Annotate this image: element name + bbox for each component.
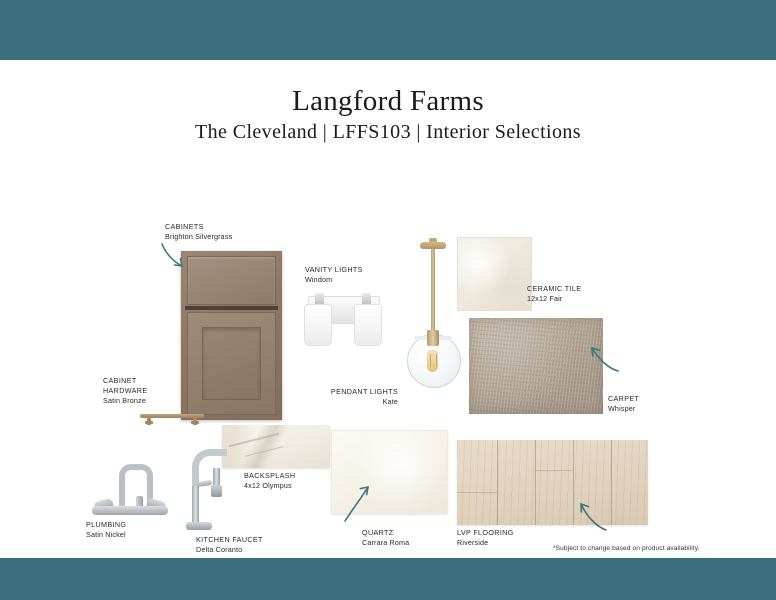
label-lvp-flooring-product: Riverside [457,538,514,548]
arrow-to-lvp-flooring [572,500,608,532]
arrow-to-quartz [336,485,370,525]
swatch-lvp-flooring[interactable] [457,440,648,525]
label-backsplash-category: BACKSPLASH [244,471,295,481]
label-vanity-lights-category: VANITY LIGHTS [305,265,363,275]
label-ceramic-tile-product: 12x12 Fair [527,294,581,304]
swatch-vanity-lights[interactable] [299,288,387,350]
bath-faucet-escutcheon [92,506,168,515]
label-vanity-lights: VANITY LIGHTS Windom [305,265,363,285]
label-lvp-flooring: LVP FLOORING Riverside [457,528,514,548]
label-ceramic-tile: CERAMIC TILE 12x12 Fair [527,284,581,304]
vanity-shade-right [354,304,382,346]
lvp-plank-seam [611,440,612,525]
label-kitchen-faucet-product: Delta Coranto [196,545,263,555]
label-backsplash: BACKSPLASH 4x12 Olympus [244,471,295,491]
pendant-socket [427,330,439,346]
cabinet-door-front [187,312,276,415]
label-pendant-lights: PENDANT LIGHTS Kate [316,387,398,407]
kitchen-faucet-sprayhead [211,485,222,497]
label-carpet-category: CARPET [608,394,639,404]
label-plumbing-product: Satin Nickel [86,530,126,540]
top-banner [0,0,776,60]
bar-pull-base-left [145,421,153,424]
label-backsplash-product: 4x12 Olympus [244,481,295,491]
label-plumbing: PLUMBING Satin Nickel [86,520,126,540]
label-quartz-category: QUARTZ [362,528,409,538]
label-ceramic-tile-category: CERAMIC TILE [527,284,581,294]
label-kitchen-faucet: KITCHEN FAUCET Delta Coranto [196,535,263,555]
page-title: Langford Farms [0,86,776,116]
bar-pull-base-right [191,421,199,424]
label-carpet: CARPET Whisper [608,394,639,414]
lvp-plank-seam [535,440,536,525]
label-vanity-lights-product: Windom [305,275,363,285]
lvp-plank-butt-joint [535,470,573,471]
cabinet-drawer-front [187,256,276,305]
label-carpet-product: Whisper [608,404,639,414]
swatch-kitchen-faucet[interactable] [172,445,230,530]
pendant-canopy [420,242,446,249]
label-cabinet-hardware-category: CABINET [103,376,147,386]
swatch-cabinets[interactable] [181,251,282,420]
backsplash-vein-1 [229,433,280,448]
label-cabinet-hardware-product: Satin Bronze [103,396,147,406]
label-quartz-product: Carrara Roma [362,538,409,548]
label-pendant-lights-category: PENDANT LIGHTS [316,387,398,397]
cabinet-recessed-panel [202,327,261,400]
pendant-stem [431,249,435,333]
label-cabinets: CABINETS Brighton Silvergrass [165,222,232,242]
label-kitchen-faucet-category: KITCHEN FAUCET [196,535,263,545]
swatch-cabinet-hardware[interactable] [140,409,204,425]
label-plumbing-category: PLUMBING [86,520,126,530]
swatch-ceramic-tile[interactable] [457,237,532,311]
swatch-plumbing-faucet[interactable] [92,455,168,515]
label-cabinet-hardware: CABINET HARDWARE Satin Bronze [103,376,147,406]
vanity-shade-left [304,304,332,346]
bottom-banner [0,558,776,600]
header: Langford Farms The Cleveland | LFFS103 |… [0,86,776,143]
page-subtitle: The Cleveland | LFFS103 | Interior Selec… [0,121,776,143]
label-quartz: QUARTZ Carrara Roma [362,528,409,548]
backsplash-vein-2 [244,446,283,457]
label-cabinets-product: Brighton Silvergrass [165,232,232,242]
lvp-plank-butt-joint [457,492,497,493]
label-cabinet-hardware-category2: HARDWARE [103,386,147,396]
label-lvp-flooring-category: LVP FLOORING [457,528,514,538]
label-cabinets-category: CABINETS [165,222,232,232]
kitchen-faucet-base [186,522,212,530]
kitchen-faucet-column [192,486,199,524]
selection-board: Langford Farms The Cleveland | LFFS103 |… [0,60,776,558]
arrow-to-cabinets [160,242,194,270]
footnote: *Subject to change based on product avai… [553,545,700,552]
cabinet-reveal-gap [185,306,278,310]
arrow-to-carpet [580,343,620,373]
swatch-backsplash[interactable] [222,425,330,468]
pendant-filament [430,354,437,367]
label-pendant-lights-product: Kate [316,397,398,407]
lvp-plank-seam [497,440,498,525]
